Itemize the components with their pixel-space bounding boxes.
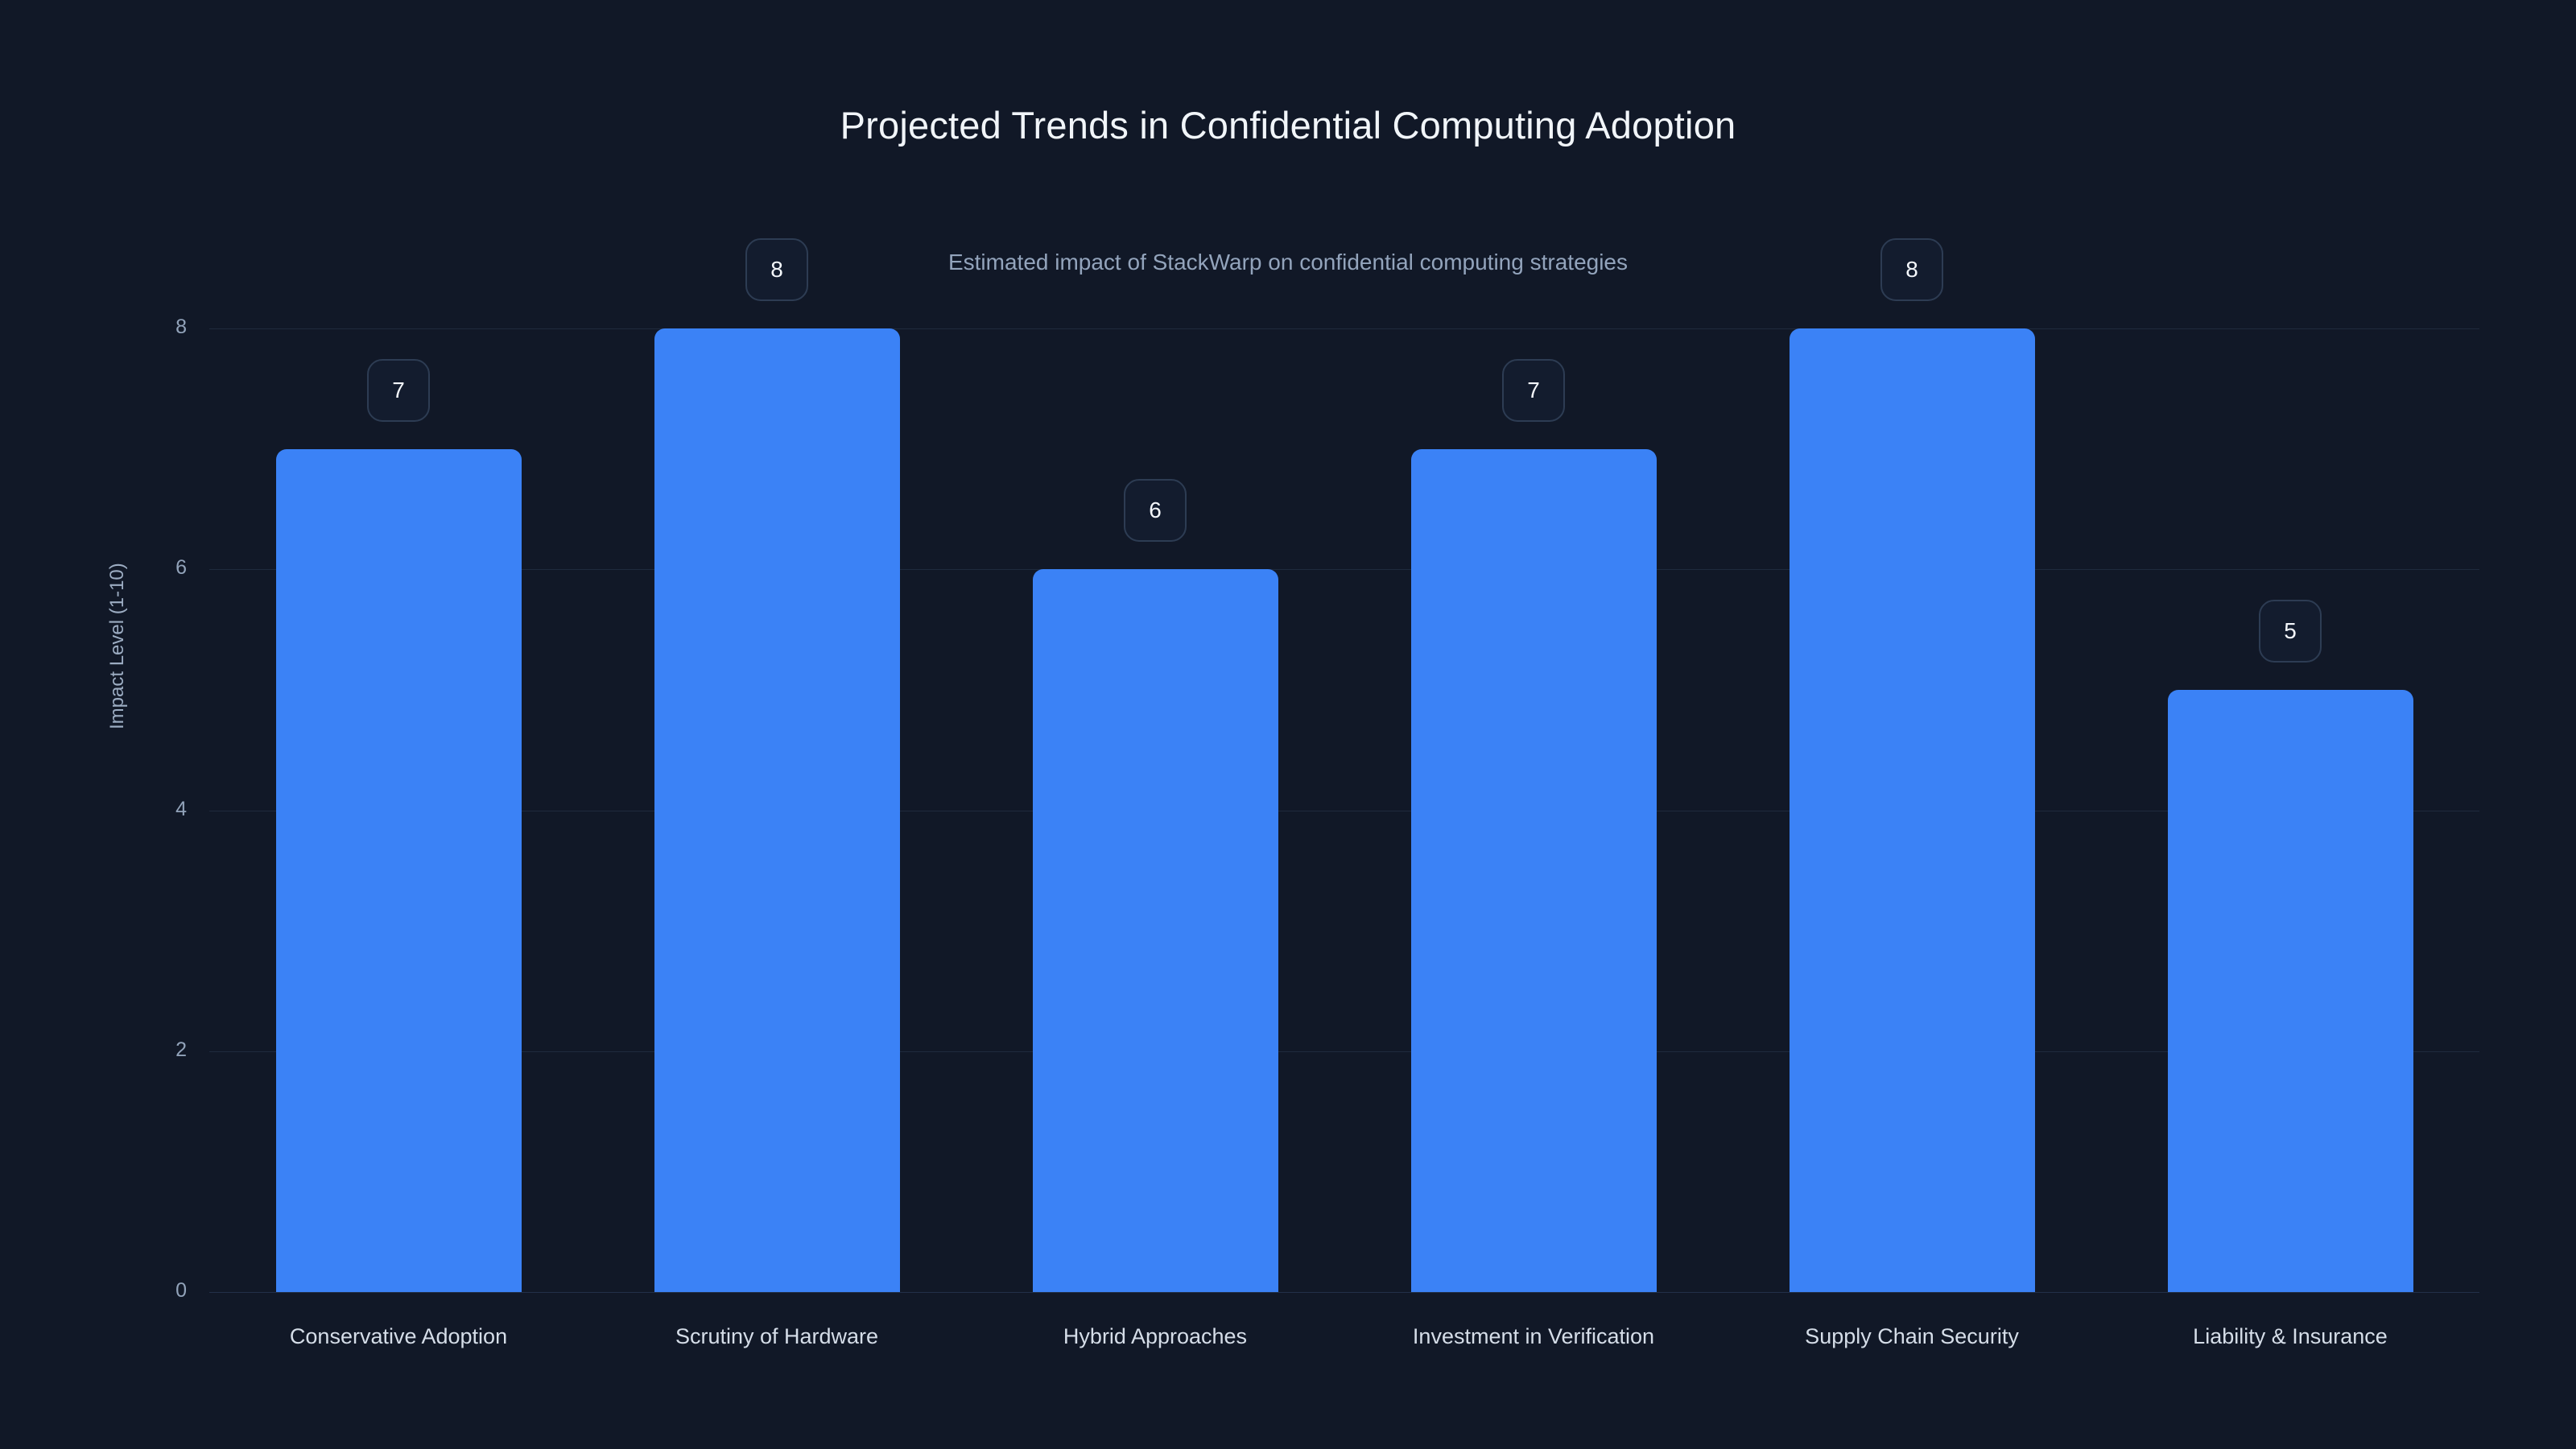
gridline [209,1051,2479,1052]
bar-value-badge: 8 [1880,238,1943,301]
bar-chart: Projected Trends in Confidential Computi… [0,0,2576,1449]
bar-value-badge: 5 [2259,600,2322,663]
plot-area [209,328,2479,1292]
gridline [209,569,2479,570]
bar[interactable] [654,328,900,1292]
x-axis-category-label: Liability & Insurance [2193,1324,2388,1349]
x-axis-category-label: Supply Chain Security [1805,1324,2019,1349]
bar[interactable] [276,449,522,1292]
gridline [209,811,2479,811]
chart-title: Projected Trends in Confidential Computi… [0,103,2576,147]
x-axis-category-label: Hybrid Approaches [1063,1324,1247,1349]
bar[interactable] [1790,328,2035,1292]
bar-value-badge: 6 [1124,479,1187,542]
bar[interactable] [1033,569,1278,1292]
chart-subtitle: Estimated impact of StackWarp on confide… [0,250,2576,275]
x-axis-category-label: Investment in Verification [1413,1324,1654,1349]
bar[interactable] [1411,449,1657,1292]
bar[interactable] [2168,690,2413,1292]
axis-baseline [209,1292,2479,1293]
y-axis-tick-label: 4 [145,798,187,821]
bar-value-badge: 8 [745,238,808,301]
y-axis-tick-label: 2 [145,1038,187,1062]
bar-value-badge: 7 [367,359,430,422]
y-axis-tick-label: 6 [145,556,187,580]
y-axis-tick-label: 0 [145,1279,187,1302]
gridline [209,328,2479,329]
bar-value-badge: 7 [1502,359,1565,422]
y-axis-tick-label: 8 [145,316,187,339]
x-axis-category-label: Scrutiny of Hardware [675,1324,878,1349]
y-axis-title: Impact Level (1-10) [106,692,129,729]
x-axis-category-label: Conservative Adoption [290,1324,507,1349]
